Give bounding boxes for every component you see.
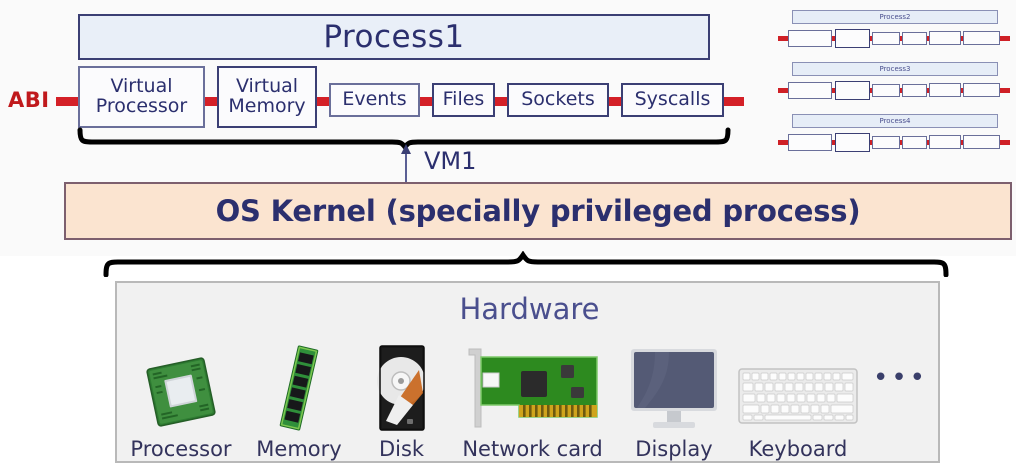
abi-label: ABI xyxy=(8,88,50,112)
mini-process-box xyxy=(902,32,927,45)
cpu-chip-icon xyxy=(138,341,224,433)
mini-process-box xyxy=(902,84,927,97)
ram-stick-icon xyxy=(263,341,335,433)
hardware-item-label: Network card xyxy=(462,437,602,461)
mini-process-box xyxy=(788,82,832,99)
hard-disk-icon xyxy=(369,341,435,433)
abi-box-virtual-processor[interactable]: VirtualProcessor xyxy=(78,66,205,128)
hardware-brace xyxy=(102,251,950,277)
abi-box-label: Files xyxy=(439,90,489,110)
mini-process-box xyxy=(788,134,832,151)
abi-red-connector xyxy=(722,97,744,106)
hardware-title: Hardware xyxy=(117,292,942,326)
mini-process-box xyxy=(788,30,832,47)
abi-box-label: Events xyxy=(338,90,410,110)
hardware-item-label: Display xyxy=(635,437,712,461)
abi-box-sockets[interactable]: Sockets xyxy=(507,83,609,117)
hardware-item-processor[interactable]: Processor xyxy=(117,341,245,461)
abi-box-files[interactable]: Files xyxy=(432,83,495,117)
mini-process-box xyxy=(902,136,927,149)
mini-process-box xyxy=(872,84,900,97)
mini-process-box xyxy=(872,32,900,45)
abi-box-syscalls[interactable]: Syscalls xyxy=(621,83,724,117)
mini-process-row xyxy=(778,132,1010,154)
mini-process-box xyxy=(929,31,961,45)
mini-process-header: Process3 xyxy=(792,62,998,76)
abi-box-virtual-memory[interactable]: VirtualMemory xyxy=(217,66,317,128)
mini-process-box xyxy=(963,83,1000,97)
mini-process-box xyxy=(872,136,900,149)
network-card-icon xyxy=(459,341,607,433)
mini-process-box xyxy=(835,29,870,48)
mini-process-row xyxy=(778,80,1010,102)
mini-process-title: Process4 xyxy=(879,117,910,125)
process1-title: Process1 xyxy=(323,19,464,55)
hardware-item-keyboard[interactable]: Keyboard xyxy=(733,341,863,461)
abi-box-events[interactable]: Events xyxy=(329,83,420,117)
mini-process-header: Process2 xyxy=(792,10,998,24)
hardware-item-label: Processor xyxy=(130,437,231,461)
hardware-item-network-card[interactable]: Network card xyxy=(450,341,615,461)
abi-box-label: Syscalls xyxy=(631,90,715,110)
hardware-item-disk[interactable]: Disk xyxy=(353,341,450,461)
abi-red-connector xyxy=(56,97,80,106)
abi-box-label: VirtualMemory xyxy=(224,77,309,117)
hardware-panel: Hardware xyxy=(115,281,940,463)
mini-process-box xyxy=(835,133,870,152)
mini-process-box xyxy=(835,81,870,100)
hardware-item-label: Disk xyxy=(379,437,424,461)
mini-process-box xyxy=(929,135,961,149)
keyboard-icon xyxy=(736,341,860,433)
mini-process-title: Process3 xyxy=(879,65,910,73)
hardware-item-label: Memory xyxy=(256,437,341,461)
os-kernel-box: OS Kernel (specially privileged process) xyxy=(64,182,1012,240)
more-devices-ellipsis: ••• xyxy=(873,363,928,393)
diagram-canvas: Process1 ABI VirtualProcessor VirtualMem… xyxy=(0,0,1016,473)
mini-process-header: Process4 xyxy=(792,114,998,128)
mini-process-title: Process2 xyxy=(879,13,910,21)
monitor-icon xyxy=(625,341,723,433)
hardware-item-memory[interactable]: Memory xyxy=(245,341,353,461)
mini-process-box xyxy=(929,83,961,97)
hardware-item-display[interactable]: Display xyxy=(615,341,733,461)
vm1-label: VM1 xyxy=(424,147,476,175)
os-kernel-label: OS Kernel (specially privileged process) xyxy=(216,194,861,228)
mini-process-row xyxy=(778,28,1010,50)
hardware-item-list: Processor xyxy=(117,331,942,461)
abi-box-label: Sockets xyxy=(517,90,599,110)
abi-box-label: VirtualProcessor xyxy=(92,77,192,117)
mini-process-box xyxy=(963,135,1000,149)
hardware-item-label: Keyboard xyxy=(749,437,848,461)
mini-process-box xyxy=(963,31,1000,45)
process1-header-box: Process1 xyxy=(78,14,710,60)
